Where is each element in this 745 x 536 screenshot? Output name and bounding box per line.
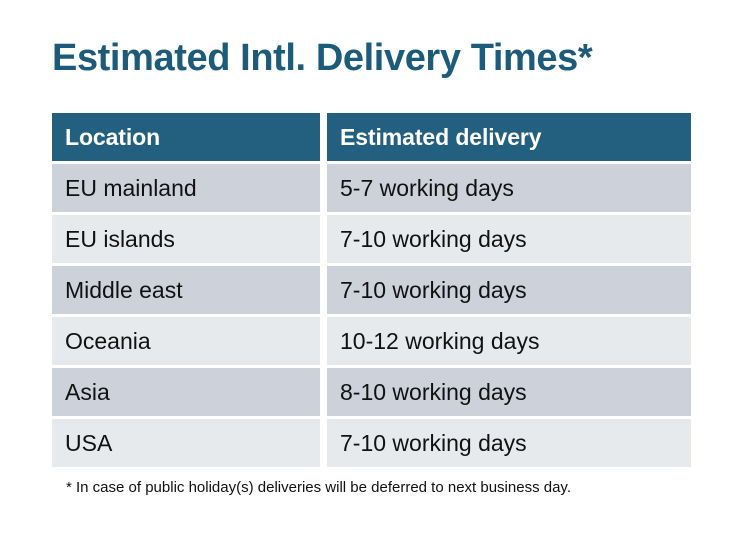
table-row: Middle east 7-10 working days (52, 266, 691, 314)
column-gap (320, 317, 327, 365)
table-row: Asia 8-10 working days (52, 368, 691, 416)
column-gap (320, 368, 327, 416)
table-header-row: Location Estimated delivery (52, 113, 691, 161)
column-header-location: Location (52, 113, 320, 161)
column-gap (320, 215, 327, 263)
column-gap (320, 113, 327, 161)
column-gap (320, 266, 327, 314)
cell-location: EU islands (52, 215, 320, 263)
table-row: USA 7-10 working days (52, 419, 691, 467)
column-gap (320, 419, 327, 467)
page-title: Estimated Intl. Delivery Times* (52, 36, 592, 80)
cell-location: EU mainland (52, 164, 320, 212)
table-row: EU islands 7-10 working days (52, 215, 691, 263)
cell-delivery: 7-10 working days (327, 215, 691, 263)
column-header-estimated-delivery: Estimated delivery (327, 113, 691, 161)
cell-delivery: 5-7 working days (327, 164, 691, 212)
cell-location: Asia (52, 368, 320, 416)
delivery-times-table: Location Estimated delivery EU mainland … (52, 113, 691, 467)
cell-delivery: 10-12 working days (327, 317, 691, 365)
footnote-text: * In case of public holiday(s) deliverie… (66, 478, 571, 498)
cell-location: Middle east (52, 266, 320, 314)
cell-delivery: 8-10 working days (327, 368, 691, 416)
cell-location: USA (52, 419, 320, 467)
table-row: Oceania 10-12 working days (52, 317, 691, 365)
column-gap (320, 164, 327, 212)
delivery-times-panel: Estimated Intl. Delivery Times* Location… (0, 0, 745, 536)
cell-location: Oceania (52, 317, 320, 365)
cell-delivery: 7-10 working days (327, 419, 691, 467)
table-row: EU mainland 5-7 working days (52, 164, 691, 212)
cell-delivery: 7-10 working days (327, 266, 691, 314)
